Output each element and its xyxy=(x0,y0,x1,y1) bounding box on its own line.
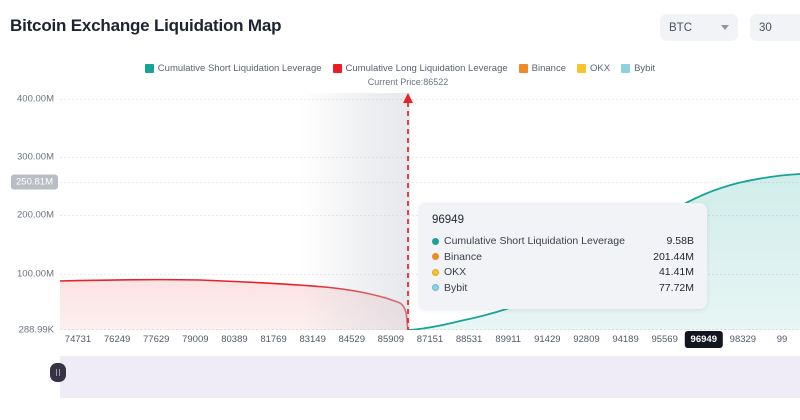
x-axis-tick: 81769 xyxy=(260,334,286,345)
y-axis-tick: 200.00M xyxy=(17,210,54,221)
legend-label: OKX xyxy=(590,63,610,74)
series-dot-icon xyxy=(432,269,439,276)
legend-item-cumulative-long[interactable]: Cumulative Long Liquidation Leverage xyxy=(333,63,508,74)
drag-handle-icon[interactable] xyxy=(50,363,66,382)
chart-tooltip: 96949 Cumulative Short Liquidation Lever… xyxy=(419,203,707,309)
y-axis: 400.00M 300.00M 250.81M 200.00M 100.00M … xyxy=(0,93,60,330)
series-dot-icon xyxy=(432,253,439,260)
x-axis-tick: 80389 xyxy=(221,334,247,345)
tooltip-row-value: 201.44M xyxy=(653,251,694,263)
grip-line xyxy=(56,369,57,376)
header-controls: BTC 30 xyxy=(660,14,800,41)
x-axis-tick: 92809 xyxy=(573,334,599,345)
page-title: Bitcoin Exchange Liquidation Map xyxy=(10,16,281,36)
x-axis-tick: 74731 xyxy=(65,334,91,345)
x-axis-tick: 85909 xyxy=(378,334,404,345)
liquidation-map-page: Bitcoin Exchange Liquidation Map BTC 30 … xyxy=(0,0,800,420)
current-price-label: Current Price:86522 xyxy=(368,77,449,87)
tooltip-row: Cumulative Short Liquidation Leverage 9.… xyxy=(432,235,694,247)
legend-swatch xyxy=(333,64,342,73)
range-select-value: 30 xyxy=(759,22,772,34)
range-select[interactable]: 30 xyxy=(750,14,800,41)
asset-select-value: BTC xyxy=(669,22,692,34)
legend-swatch xyxy=(519,64,528,73)
x-axis-tick: 94189 xyxy=(612,334,638,345)
y-axis-tick: 400.00M xyxy=(17,94,54,105)
x-axis-tick: 88531 xyxy=(456,334,482,345)
x-axis-tick: 79009 xyxy=(182,334,208,345)
x-axis-tick: 84529 xyxy=(339,334,365,345)
legend-label: Binance xyxy=(532,63,566,74)
x-axis-tick: 89911 xyxy=(495,334,521,345)
x-axis-tick: 91429 xyxy=(534,334,560,345)
asset-select[interactable]: BTC xyxy=(660,14,738,41)
legend-swatch xyxy=(621,64,630,73)
tooltip-row-label: Bybit xyxy=(444,282,467,294)
tooltip-row-value: 41.41M xyxy=(659,266,694,278)
y-axis-tick: 300.00M xyxy=(17,152,54,163)
tooltip-row-value: 77.72M xyxy=(659,282,694,294)
legend-swatch xyxy=(145,64,154,73)
legend-swatch xyxy=(577,64,586,73)
range-brush[interactable] xyxy=(60,356,800,398)
legend-item-binance[interactable]: Binance xyxy=(519,63,566,74)
series-dot-icon xyxy=(432,238,439,245)
tooltip-title: 96949 xyxy=(432,214,694,226)
tooltip-row-label: OKX xyxy=(444,266,466,278)
series-dot-icon xyxy=(432,284,439,291)
x-axis-tick: 99 xyxy=(777,334,788,345)
legend-label: Cumulative Long Liquidation Leverage xyxy=(346,63,508,74)
x-axis-tick-active: 96949 xyxy=(685,331,723,348)
chart-legend: Cumulative Short Liquidation Leverage Cu… xyxy=(0,63,800,74)
tooltip-row-label: Binance xyxy=(444,251,482,263)
x-axis-tick: 98329 xyxy=(730,334,756,345)
legend-item-okx[interactable]: OKX xyxy=(577,63,610,74)
legend-item-bybit[interactable]: Bybit xyxy=(621,63,655,74)
x-axis-tick: 77629 xyxy=(143,334,169,345)
tooltip-row: Binance 201.44M xyxy=(432,251,694,263)
x-axis-tick: 76249 xyxy=(104,334,130,345)
x-axis-tick: 95569 xyxy=(651,334,677,345)
legend-item-cumulative-short[interactable]: Cumulative Short Liquidation Leverage xyxy=(145,63,322,74)
legend-label: Cumulative Short Liquidation Leverage xyxy=(158,63,322,74)
y-axis-highlight-badge: 250.81M xyxy=(11,175,58,190)
hover-band xyxy=(300,93,410,330)
tooltip-row: OKX 41.41M xyxy=(432,266,694,278)
tooltip-row-value: 9.58B xyxy=(667,235,694,247)
legend-label: Bybit xyxy=(634,63,655,74)
grip-line xyxy=(59,369,60,376)
y-axis-tick: 100.00M xyxy=(17,269,54,280)
x-axis-tick: 83149 xyxy=(299,334,325,345)
x-axis: 7473176249776297900980389817698314984529… xyxy=(0,334,800,354)
tooltip-row: Bybit 77.72M xyxy=(432,282,694,294)
page-header: Bitcoin Exchange Liquidation Map BTC 30 xyxy=(0,0,800,54)
x-axis-tick: 87151 xyxy=(417,334,443,345)
chevron-down-icon xyxy=(721,25,729,30)
tooltip-row-label: Cumulative Short Liquidation Leverage xyxy=(444,235,625,247)
